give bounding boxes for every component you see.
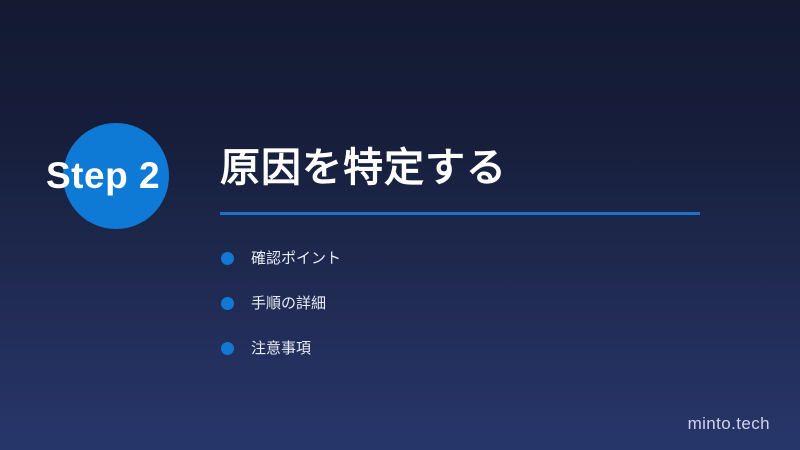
bullet-dot-icon: [221, 252, 234, 265]
bullet-item-label: 手順の詳細: [251, 294, 326, 314]
bullet-item-label: 注意事項: [251, 339, 311, 359]
slide-title: 原因を特定する: [220, 142, 507, 194]
list-item: 確認ポイント: [221, 236, 701, 281]
bullet-dot-icon: [221, 342, 234, 355]
presentation-slide: Step 2 原因を特定する 確認ポイント 手順の詳細 注意事項 minto.t…: [0, 0, 800, 450]
bullet-list: 確認ポイント 手順の詳細 注意事項: [221, 236, 701, 371]
list-item: 注意事項: [221, 326, 701, 371]
title-divider: [220, 212, 700, 215]
bullet-dot-icon: [221, 297, 234, 310]
list-item: 手順の詳細: [221, 281, 701, 326]
footer-brand: minto.tech: [688, 414, 770, 434]
bullet-item-label: 確認ポイント: [251, 249, 341, 269]
step-badge-label: Step 2: [46, 153, 216, 199]
